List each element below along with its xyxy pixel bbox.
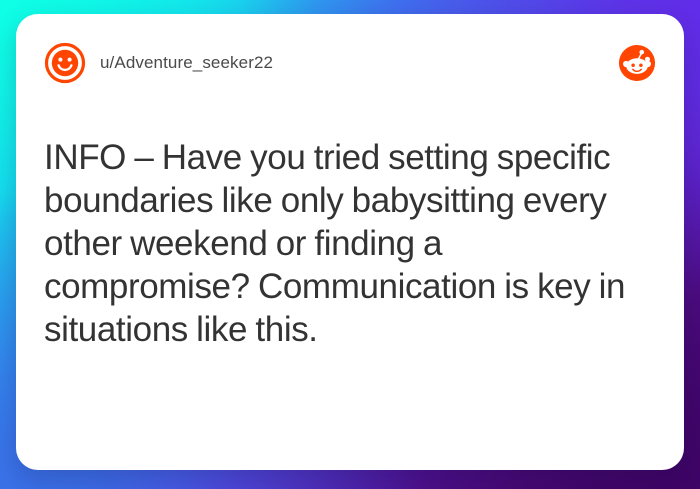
quote-card-canvas: u/Adventure_seeker22 INFO – Have you tri… <box>0 0 700 489</box>
smiley-face-avatar-icon <box>44 42 86 84</box>
reddit-quote-card: u/Adventure_seeker22 INFO – Have you tri… <box>16 14 684 470</box>
reddit-snoo-icon[interactable] <box>618 44 656 82</box>
card-header: u/Adventure_seeker22 <box>44 38 656 88</box>
quote-text: INFO – Have you tried setting specific b… <box>44 136 656 351</box>
username-label: u/Adventure_seeker22 <box>100 53 273 73</box>
user-block[interactable]: u/Adventure_seeker22 <box>44 42 273 84</box>
